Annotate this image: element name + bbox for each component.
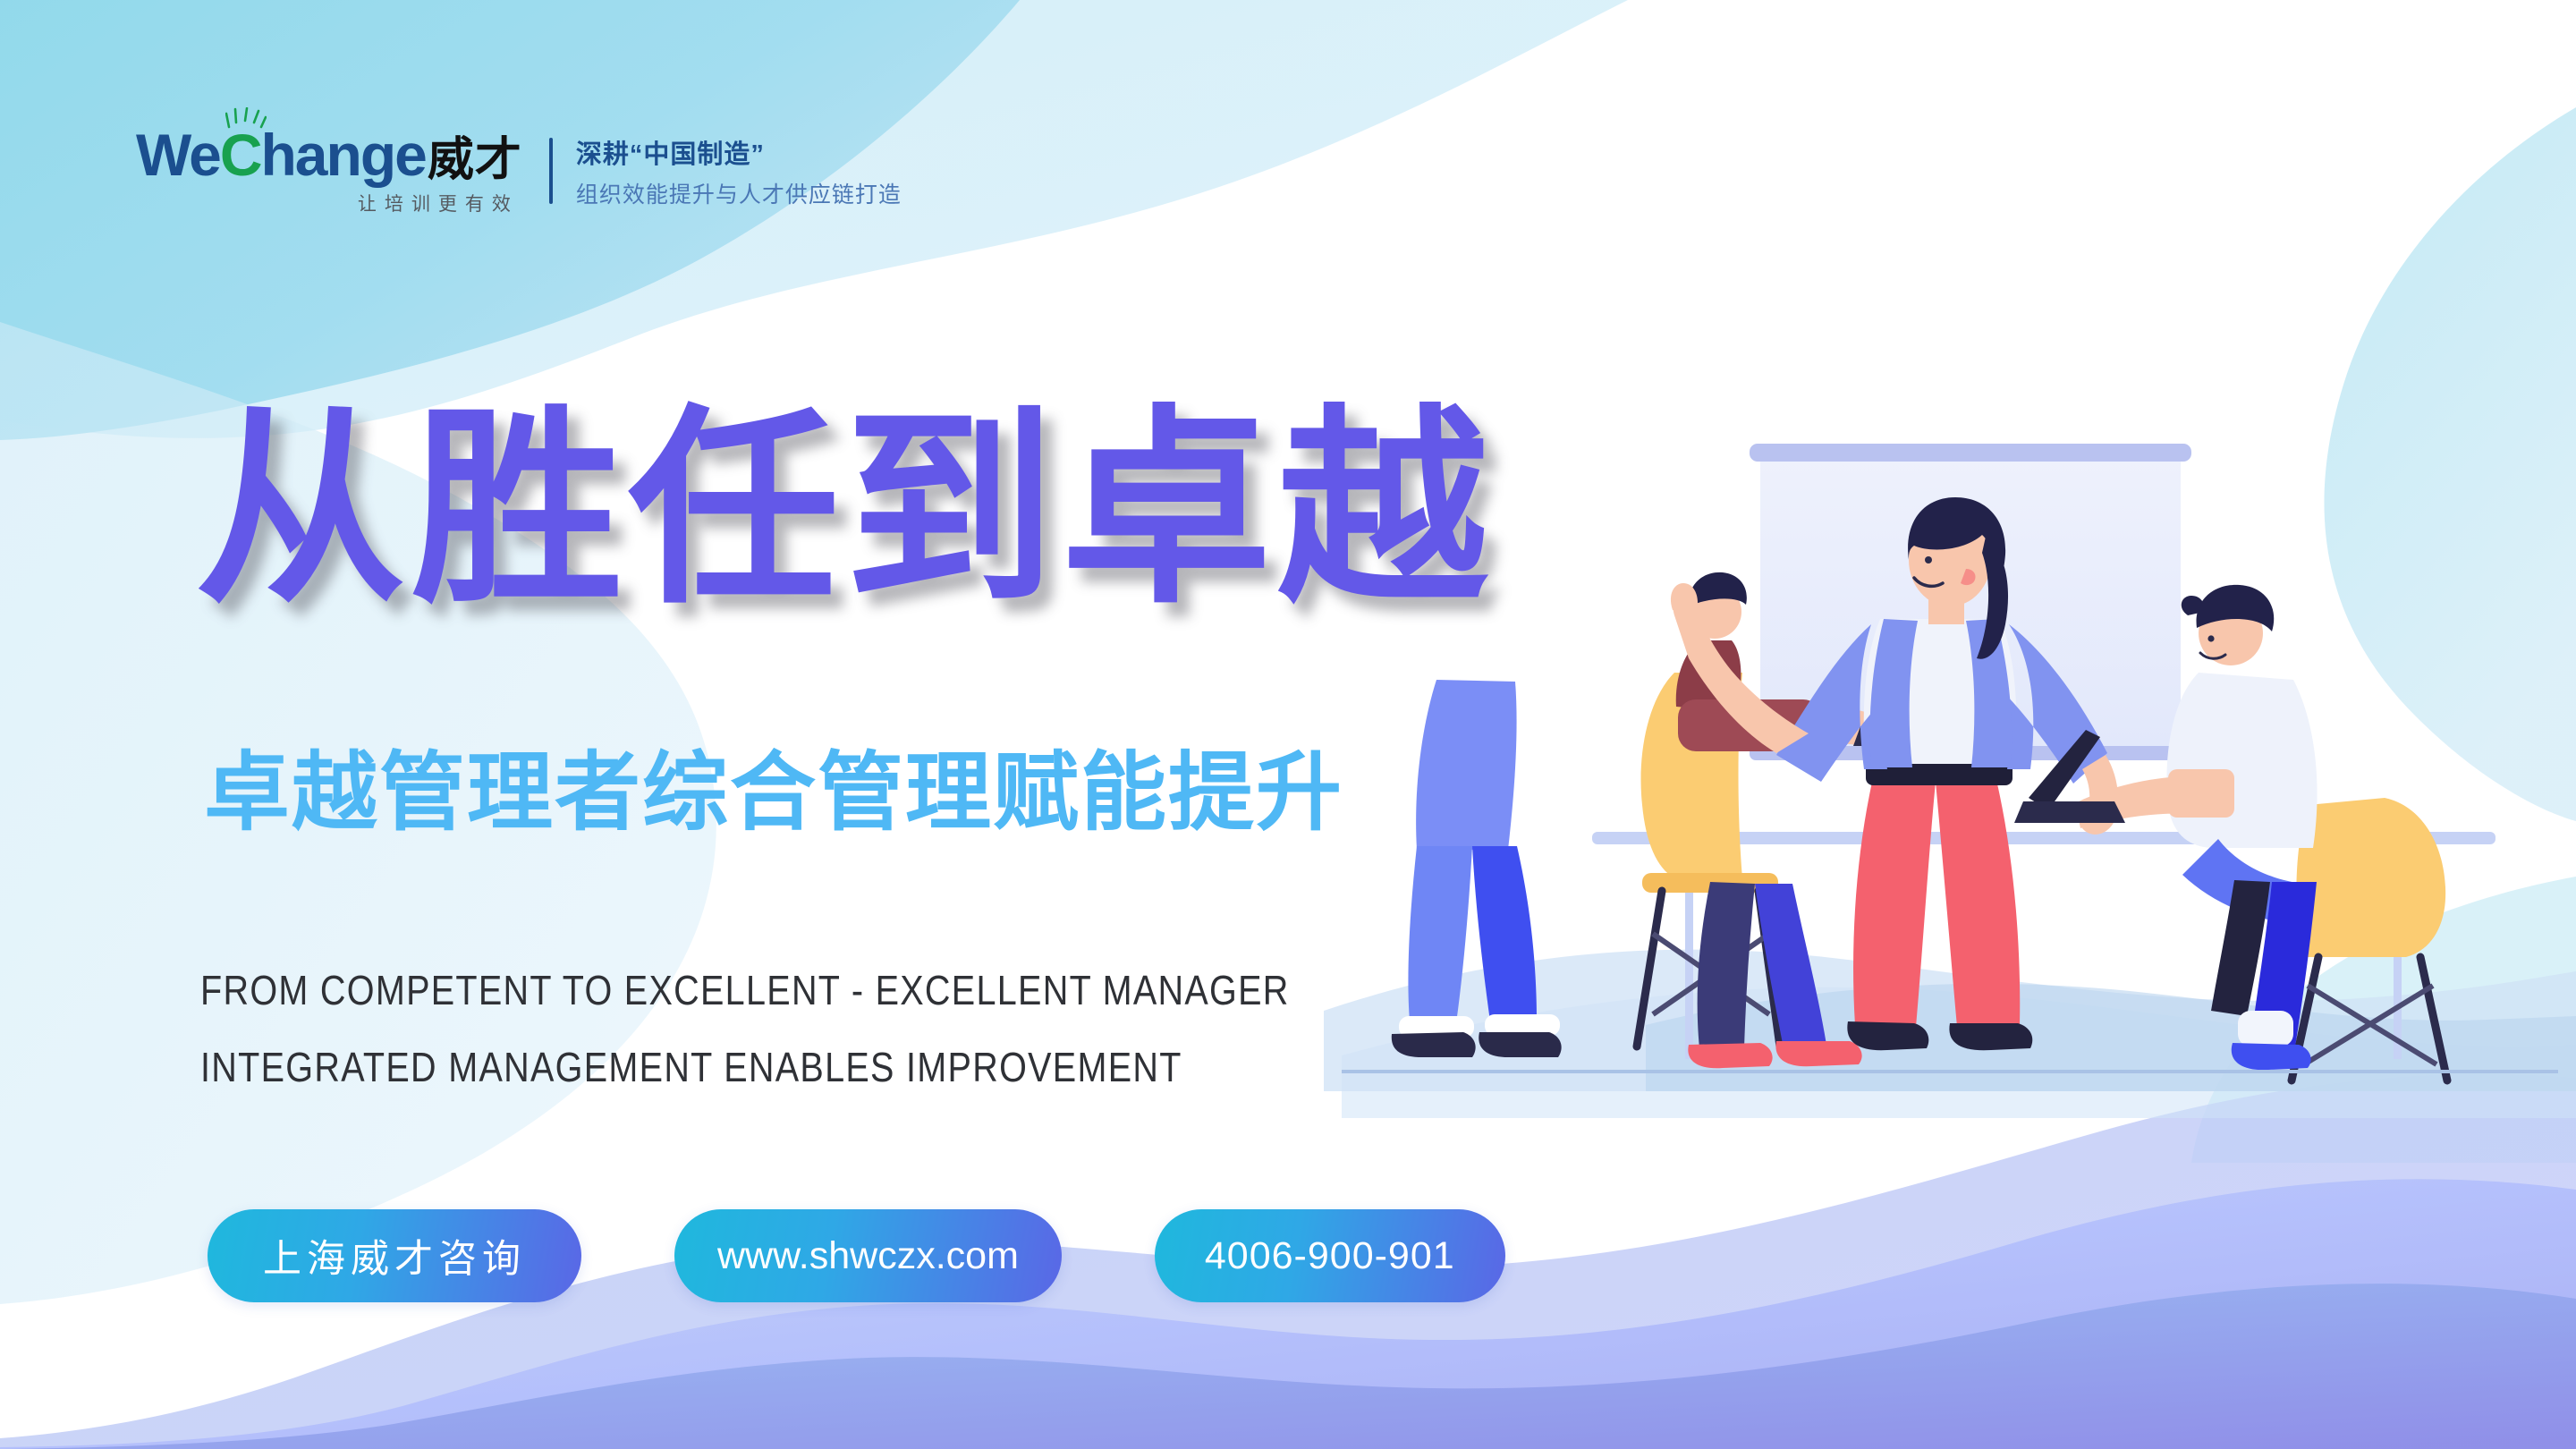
logo-text-hange: hange bbox=[260, 125, 425, 184]
slogan-secondary: 组织效能提升与人才供应链打造 bbox=[576, 177, 902, 209]
sunburst-rays-icon bbox=[225, 107, 267, 131]
contact-pill-website[interactable]: www.shwczx.com bbox=[674, 1209, 1062, 1302]
training-seminar-illustration bbox=[1324, 385, 2576, 1091]
logo-wordmark: We C hange 威才 bbox=[136, 125, 522, 184]
logo-wordmark-group: We C hange 威才 让培训更有效 bbox=[136, 125, 522, 216]
contact-pill-phone[interactable]: 4006-900-901 bbox=[1155, 1209, 1505, 1302]
page-title: 从胜任到卓越 bbox=[195, 404, 1494, 615]
english-tagline-line-2: INTEGRATED MANAGEMENT ENABLES IMPROVEMEN… bbox=[200, 1043, 1182, 1091]
page-subtitle: 卓越管理者综合管理赋能提升 bbox=[204, 750, 1343, 835]
contact-pill-group: 上海威才咨询 www.shwczx.com 4006-900-901 bbox=[208, 1209, 1505, 1302]
logo-text-we: We bbox=[136, 125, 220, 184]
logo-tagline: 让培训更有效 bbox=[358, 190, 519, 216]
slogan-primary: 深耕“中国制造” bbox=[576, 133, 902, 171]
contact-pill-company[interactable]: 上海威才咨询 bbox=[208, 1209, 581, 1302]
english-tagline-line-1: FROM COMPETENT TO EXCELLENT - EXCELLENT … bbox=[200, 966, 1290, 1014]
poster-canvas: We C hange 威才 让培训更有效 bbox=[0, 0, 2576, 1449]
logo-text-chinese: 威才 bbox=[428, 137, 522, 183]
logo-text-c: C bbox=[220, 122, 261, 188]
logo-c-group: C bbox=[220, 125, 261, 184]
brand-logo[interactable]: We C hange 威才 让培训更有效 bbox=[136, 125, 902, 216]
brand-slogan-group: 深耕“中国制造” 组织效能提升与人才供应链打造 bbox=[576, 133, 902, 209]
logo-divider bbox=[549, 138, 553, 204]
